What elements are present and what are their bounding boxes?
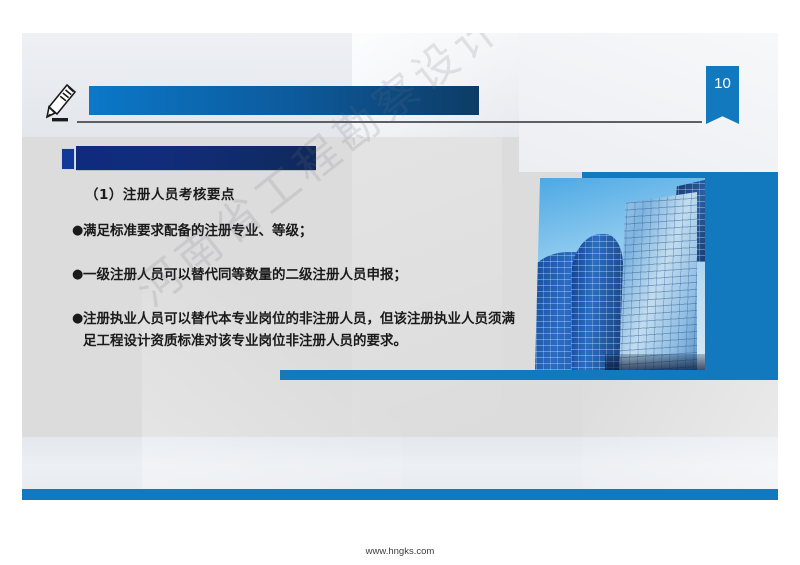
title-underline xyxy=(77,121,702,123)
bottom-accent-bar xyxy=(22,489,778,500)
pencil-icon xyxy=(44,83,78,127)
sub-heading-bar xyxy=(76,146,316,170)
glass-skyscrapers-photo xyxy=(535,178,705,370)
section-title: （1）注册人员考核要点 xyxy=(85,183,235,203)
list-item-label: 满足标准要求配备的注册专业、等级； xyxy=(72,220,520,242)
background-facet-middle-highlight xyxy=(352,137,502,437)
page-number-ribbon: 10 xyxy=(706,66,739,124)
page-root: 10 xyxy=(0,0,800,565)
slide-header xyxy=(22,33,778,137)
slide-canvas: 10 xyxy=(22,33,778,511)
bullet-marker-icon: ● xyxy=(72,264,83,286)
slide-title-bar xyxy=(89,86,479,115)
sub-heading-marker xyxy=(62,149,74,169)
photo-tower-center xyxy=(571,234,623,370)
background-facet-lower xyxy=(22,437,778,489)
photo-accent-strip xyxy=(280,370,778,380)
photo-tower-main xyxy=(619,192,697,370)
list-item-label: 注册执业人员可以替代本专业岗位的非注册人员，但该注册执业人员须满足工程设计资质标… xyxy=(72,308,520,352)
list-item: ● 注册执业人员可以替代本专业岗位的非注册人员，但该注册执业人员须满足工程设计资… xyxy=(72,308,520,352)
bullet-marker-icon: ● xyxy=(72,220,83,242)
list-item-label: 一级注册人员可以替代同等数量的二级注册人员申报； xyxy=(72,264,520,286)
footer-url: www.hngks.com xyxy=(0,546,800,557)
list-item: ● 一级注册人员可以替代同等数量的二级注册人员申报； xyxy=(72,264,520,286)
bottom-white-strip xyxy=(22,500,778,511)
photo-base-shadow xyxy=(605,354,705,370)
background-facet-diagonal-right xyxy=(582,363,778,493)
bullet-marker-icon: ● xyxy=(72,308,83,330)
page-number-label: 10 xyxy=(706,75,739,92)
list-item: ● 满足标准要求配备的注册专业、等级； xyxy=(72,220,520,242)
ribbon-notch-icon xyxy=(706,110,739,124)
